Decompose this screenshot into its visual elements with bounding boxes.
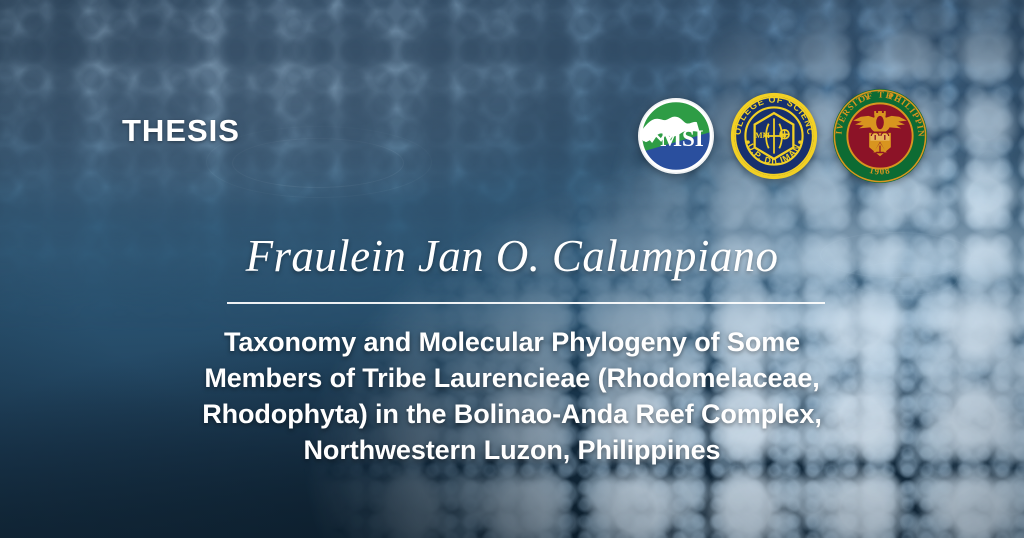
up-year-text: 1908 xyxy=(868,165,891,176)
title-line: Rhodophyta) in the Bolinao-Anda Reef Com… xyxy=(130,396,894,432)
author-name: Fraulein Jan O. Calumpiano xyxy=(0,232,1024,282)
institution-seals-group: MSI MM COLLEGE OF S xyxy=(636,88,928,184)
thesis-kind-label: THESIS xyxy=(122,115,240,146)
title-line: Northwestern Luzon, Philippines xyxy=(130,432,894,468)
college-of-science-up-diliman-seal: MM COLLEGE OF SCIENCE U.P. DILIMAN xyxy=(730,92,818,180)
university-of-the-philippines-seal: OF THE UNIVERSITY PHILIPPINES 1908 xyxy=(832,88,928,184)
thesis-title: Taxonomy and Molecular Phylogeny of Some… xyxy=(130,324,894,468)
svg-text:MM: MM xyxy=(755,131,770,140)
msi-acronym: MSI xyxy=(660,126,704,151)
thesis-announcement-banner: THESIS MSI xyxy=(0,0,1024,538)
msi-logo: MSI xyxy=(636,96,716,176)
title-line: Members of Tribe Laurencieae (Rhodomelac… xyxy=(130,360,894,396)
divider-rule xyxy=(227,302,825,304)
title-line: Taxonomy and Molecular Phylogeny of Some xyxy=(130,324,894,360)
